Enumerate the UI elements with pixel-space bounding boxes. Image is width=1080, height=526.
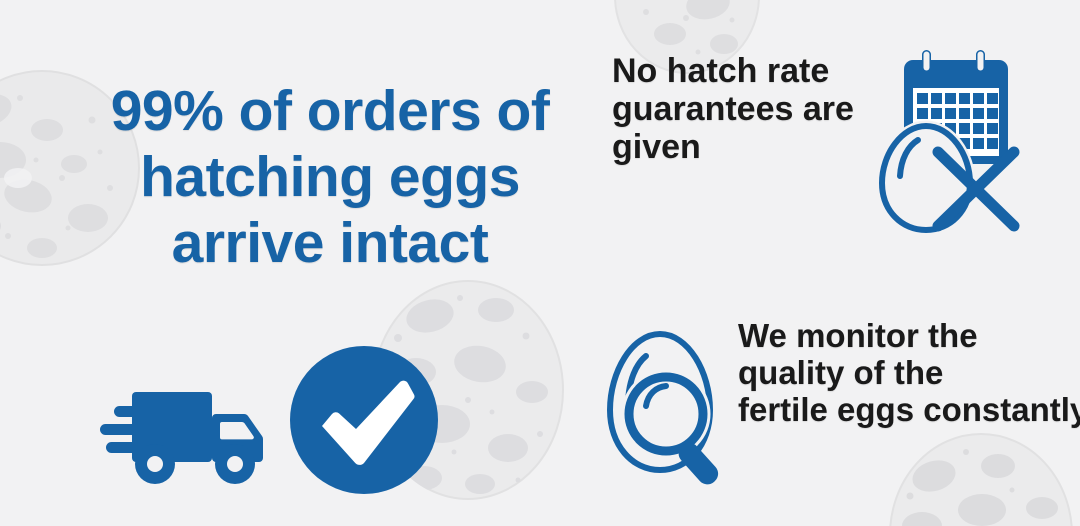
check-circle-icon [288,344,440,496]
infographic-canvas: 99% of orders of hatching eggs arrive in… [0,0,1080,526]
egg-magnifier-icon [598,328,746,488]
statement-line-1: We monitor the [738,318,1080,355]
statement-line-2: guarantees are [612,90,902,128]
headline-line-2: hatching eggs [70,144,590,210]
statement-line-2: quality of the [738,355,1080,392]
statement-line-3: fertile eggs constantly [738,392,1080,429]
calendar-egg-cross-icon [876,48,1024,238]
statement-no-hatch-guarantee: No hatch rate guarantees are given [612,52,902,166]
headline-line-3: arrive intact [70,210,590,276]
statement-quality-monitoring: We monitor the quality of the fertile eg… [738,318,1080,429]
headline-line-1: 99% of orders of [70,78,590,144]
statement-line-1: No hatch rate [612,52,902,90]
statement-line-3: given [612,128,902,166]
headline: 99% of orders of hatching eggs arrive in… [70,78,590,276]
delivery-truck-icon [98,378,278,486]
speckled-egg-watermark [886,430,1076,526]
